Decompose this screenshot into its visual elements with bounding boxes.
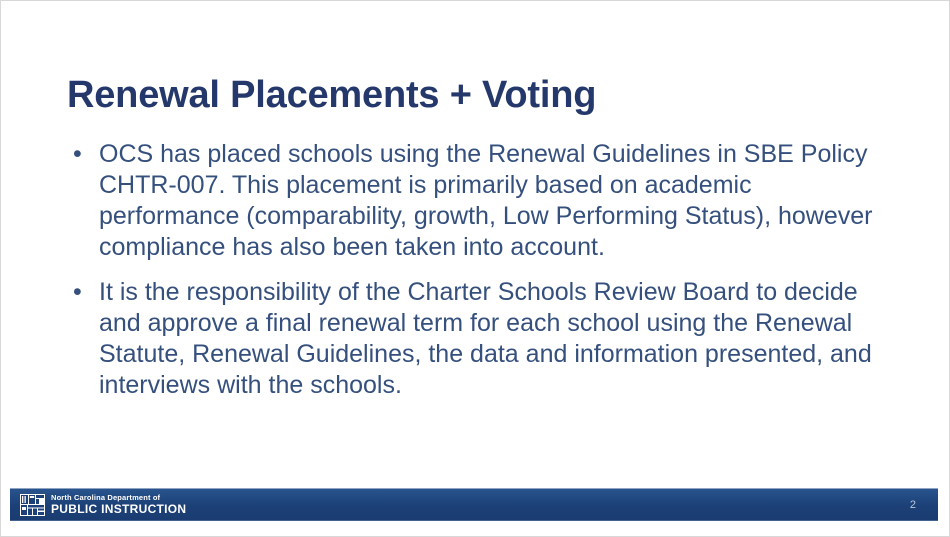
footer-bar: North Carolina Department of PUBLIC INST… [10,488,938,521]
list-item: • It is the responsibility of the Charte… [67,277,897,401]
list-item: • OCS has placed schools using the Renew… [67,139,897,263]
list-item-text: OCS has placed schools using the Renewal… [99,139,897,263]
list-item-text: It is the responsibility of the Charter … [99,277,897,401]
organization-name-line-2: PUBLIC INSTRUCTION [51,503,186,515]
organization-name: North Carolina Department of PUBLIC INST… [51,494,186,516]
slide: Renewal Placements + Voting • OCS has pl… [0,0,950,537]
nc-dpi-seal-icon [20,494,45,516]
organization-name-line-1: North Carolina Department of [51,494,186,502]
organization-logo: North Carolina Department of PUBLIC INST… [20,494,186,516]
bullet-list: • OCS has placed schools using the Renew… [67,139,897,401]
bullet-point-icon: • [67,139,99,170]
bullet-point-icon: • [67,277,99,308]
page-number: 2 [910,499,916,511]
page-title: Renewal Placements + Voting [67,72,897,118]
